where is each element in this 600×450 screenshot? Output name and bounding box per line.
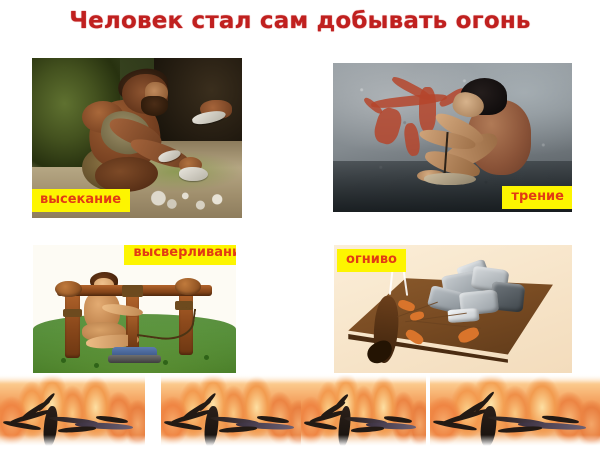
frame-post-left bbox=[65, 289, 79, 358]
caption-vysekanie: высекание bbox=[32, 189, 130, 212]
panel-firesteel: огниво bbox=[334, 245, 572, 373]
tile-base-fade bbox=[301, 435, 426, 450]
grass-tuft bbox=[204, 355, 209, 360]
slide: Человек стал сам добывать огонь высекани… bbox=[0, 0, 600, 450]
caption-vysverlivanie: высверливание bbox=[124, 245, 236, 265]
tile-base-fade bbox=[0, 435, 145, 450]
rope-lashing bbox=[63, 309, 81, 317]
drill-shaft bbox=[128, 317, 136, 350]
caption-trenie: трение bbox=[502, 186, 572, 209]
rock-painting bbox=[419, 87, 436, 132]
tile-base-fade bbox=[430, 435, 600, 450]
tile-base-fade bbox=[161, 435, 306, 450]
tile-top-fade bbox=[301, 374, 426, 383]
fire-tile bbox=[0, 374, 145, 450]
flint-stone bbox=[179, 167, 208, 181]
beam-end-right bbox=[175, 278, 201, 295]
fire-tile bbox=[301, 374, 426, 450]
beam-end-left bbox=[55, 281, 81, 298]
tile-top-fade bbox=[161, 374, 306, 383]
panel-friction: трение bbox=[333, 63, 572, 212]
page-title: Человек стал сам добывать огонь bbox=[0, 8, 600, 34]
fire-tile bbox=[430, 374, 600, 450]
panel-flint-striking: высекание bbox=[32, 58, 242, 218]
panel-drilling: высверливание bbox=[33, 245, 236, 373]
tile-top-fade bbox=[0, 374, 145, 383]
fire-tile bbox=[161, 374, 306, 450]
fire-border bbox=[0, 374, 600, 450]
rope-lashing bbox=[122, 285, 142, 298]
caption-ognivo: огниво bbox=[337, 249, 406, 272]
drill-baseboard bbox=[108, 355, 161, 363]
grass-tuft bbox=[94, 363, 99, 368]
figure-beard bbox=[141, 96, 168, 115]
stone-flakes bbox=[150, 189, 234, 211]
tile-top-fade bbox=[430, 374, 600, 383]
